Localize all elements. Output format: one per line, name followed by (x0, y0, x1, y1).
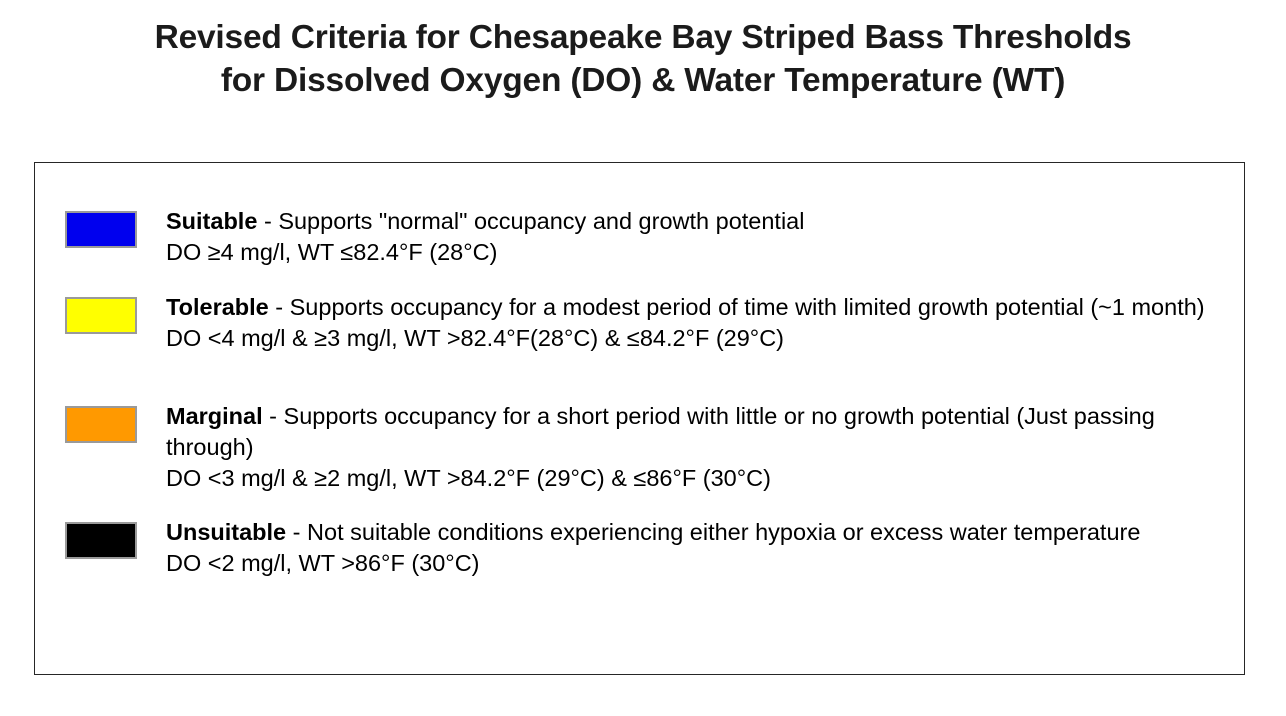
color-swatch-unsuitable (65, 522, 137, 559)
legend-separator: - (269, 294, 290, 320)
legend-panel: Suitable - Supports "normal" occupancy a… (34, 162, 1245, 675)
color-swatch-suitable (65, 211, 137, 248)
legend-item-description-suitable: Supports "normal" occupancy and growth p… (278, 208, 804, 234)
legend-item-text-tolerable: Tolerable - Supports occupancy for a mod… (166, 292, 1229, 354)
legend-item-text-suitable: Suitable - Supports "normal" occupancy a… (166, 206, 1166, 268)
legend-separator: - (257, 208, 278, 234)
legend-item-criteria-marginal: DO <3 mg/l & ≥2 mg/l, WT >84.2°F (29°C) … (166, 463, 1211, 494)
color-swatch-marginal (65, 406, 137, 443)
legend-item-description-marginal: Supports occupancy for a short period wi… (166, 403, 1155, 460)
legend-item-criteria-suitable: DO ≥4 mg/l, WT ≤82.4°F (28°C) (166, 237, 1166, 268)
color-swatch-tolerable (65, 297, 137, 334)
legend-item-description-tolerable: Supports occupancy for a modest period o… (290, 294, 1205, 320)
legend-separator: - (263, 403, 284, 429)
legend-item-criteria-tolerable: DO <4 mg/l & ≥3 mg/l, WT >82.4°F(28°C) &… (166, 323, 1229, 354)
page-title-line-1: Revised Criteria for Chesapeake Bay Stri… (0, 16, 1286, 59)
page-title: Revised Criteria for Chesapeake Bay Stri… (0, 16, 1286, 102)
legend-item-label-marginal: Marginal (166, 403, 263, 429)
legend-item-criteria-unsuitable: DO <2 mg/l, WT >86°F (30°C) (166, 548, 1146, 579)
legend-list: Suitable - Supports "normal" occupancy a… (35, 163, 1244, 674)
legend-item-label-unsuitable: Unsuitable (166, 519, 286, 545)
legend-item-label-suitable: Suitable (166, 208, 257, 234)
page-title-line-2: for Dissolved Oxygen (DO) & Water Temper… (0, 59, 1286, 102)
legend-item-label-tolerable: Tolerable (166, 294, 269, 320)
legend-item-description-unsuitable: Not suitable conditions experiencing eit… (307, 519, 1140, 545)
legend-item-text-marginal: Marginal - Supports occupancy for a shor… (166, 401, 1211, 494)
legend-separator: - (286, 519, 307, 545)
slide-canvas: Revised Criteria for Chesapeake Bay Stri… (0, 0, 1286, 716)
legend-item-text-unsuitable: Unsuitable - Not suitable conditions exp… (166, 517, 1146, 579)
